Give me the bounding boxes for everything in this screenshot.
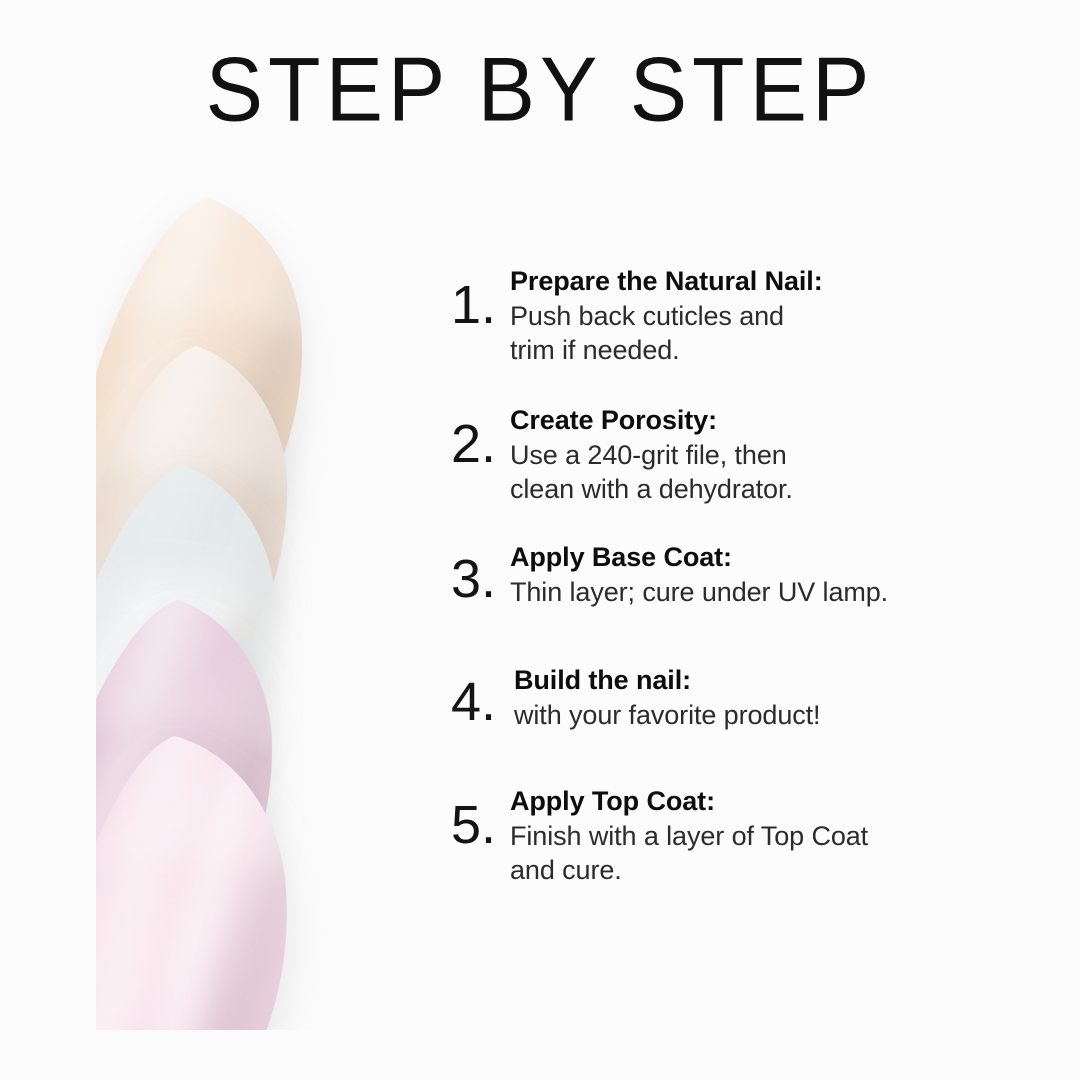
step-title-2: Create Porosity:: [510, 403, 1040, 437]
step-item-3: 3. Apply Base Coat: Thin layer; cure und…: [440, 538, 1040, 609]
step-item-4: 4. Build the nail: with your favorite pr…: [440, 661, 1040, 732]
step-description-2: Use a 240-grit file, then clean with a d…: [510, 438, 1040, 506]
step-number-5: 5.: [440, 798, 498, 852]
step-item-1: 1. Prepare the Natural Nail: Push back c…: [440, 262, 1040, 367]
step-title-3: Apply Base Coat:: [510, 540, 1040, 574]
step-description-3: Thin layer; cure under UV lamp.: [510, 575, 1040, 609]
steps-list: 1. Prepare the Natural Nail: Push back c…: [440, 262, 1040, 915]
page-title: STEP BY STEP: [0, 44, 1080, 135]
step-body-1: Prepare the Natural Nail: Push back cuti…: [498, 262, 1040, 367]
step-item-2: 2. Create Porosity: Use a 240-grit file,…: [440, 401, 1040, 506]
step-item-5: 5. Apply Top Coat: Finish with a layer o…: [440, 782, 1040, 887]
step-number-1: 1.: [440, 278, 498, 332]
step-body-3: Apply Base Coat: Thin layer; cure under …: [498, 538, 1040, 609]
step-title-4: Build the nail:: [514, 663, 1040, 697]
step-description-4: with your favorite product!: [514, 698, 1040, 732]
step-description-5: Finish with a layer of Top Coat and cure…: [510, 819, 1040, 887]
poster-canvas: STEP BY STEP: [0, 0, 1080, 1080]
step-number-3: 3.: [440, 552, 498, 606]
step-body-5: Apply Top Coat: Finish with a layer of T…: [498, 782, 1040, 887]
step-description-1: Push back cuticles and trim if needed.: [510, 299, 1040, 367]
step-body-2: Create Porosity: Use a 240-grit file, th…: [498, 401, 1040, 506]
nail-swatch-illustration: [96, 150, 476, 1030]
step-number-2: 2.: [440, 417, 498, 471]
step-title-1: Prepare the Natural Nail:: [510, 264, 1040, 298]
step-body-4: Build the nail: with your favorite produ…: [498, 661, 1040, 732]
step-title-5: Apply Top Coat:: [510, 784, 1040, 818]
step-number-4: 4.: [440, 675, 498, 729]
